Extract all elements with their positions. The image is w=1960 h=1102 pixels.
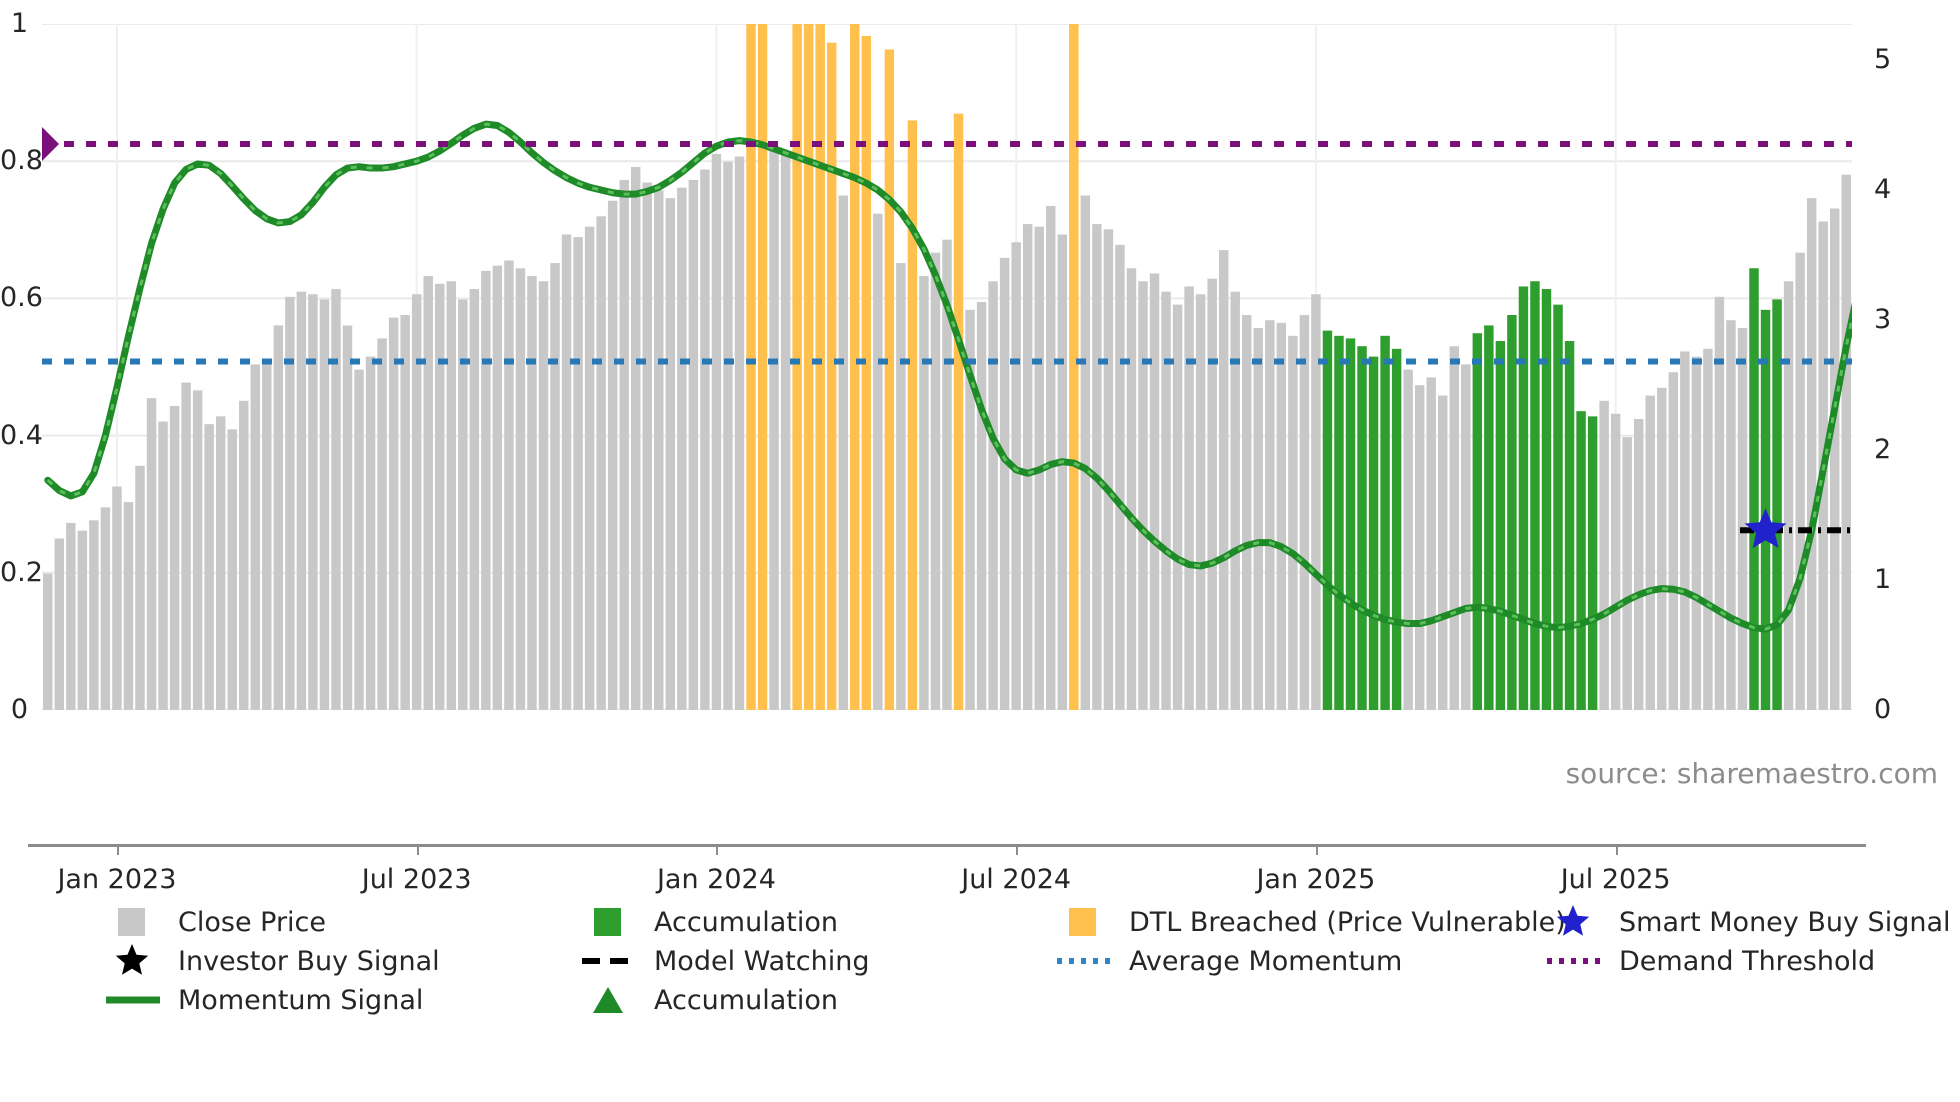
bar-close-price[interactable]	[1184, 286, 1193, 710]
bar-close-price[interactable]	[1207, 279, 1216, 710]
bar-accumulation[interactable]	[1588, 416, 1597, 710]
legend-dashed-line-icon	[580, 944, 638, 978]
legend-item-accumulation-marker[interactable]: Accumulation	[580, 983, 838, 1017]
bar-accumulation[interactable]	[1334, 336, 1343, 710]
y-axis-left-tick-label: 0.8	[0, 147, 28, 174]
bar-close-price[interactable]	[320, 299, 329, 710]
bar-close-price[interactable]	[712, 154, 721, 710]
bar-accumulation[interactable]	[1749, 268, 1758, 710]
star-icon	[1557, 905, 1589, 936]
bar-close-price[interactable]	[1161, 292, 1170, 710]
bar-close-price[interactable]	[170, 406, 179, 710]
bar-accumulation[interactable]	[1576, 411, 1585, 710]
bar-close-price[interactable]	[1173, 305, 1182, 710]
x-axis-tick-label: Jul 2024	[961, 866, 1071, 893]
bar-close-price[interactable]	[873, 214, 882, 710]
bar-close-price[interactable]	[112, 487, 121, 710]
bar-close-price[interactable]	[1830, 208, 1839, 710]
bar-accumulation[interactable]	[1380, 336, 1389, 710]
bar-close-price[interactable]	[55, 539, 64, 711]
bar-close-price[interactable]	[1138, 281, 1147, 710]
bar-close-price[interactable]	[181, 383, 190, 710]
legend-label: Accumulation	[654, 987, 838, 1014]
legend-star-icon	[1545, 905, 1603, 939]
bar-close-price[interactable]	[1023, 224, 1032, 710]
x-axis-tick	[716, 844, 718, 855]
bar-dtl-breached[interactable]	[792, 24, 801, 710]
bar-close-price[interactable]	[1634, 419, 1643, 710]
bar-dtl-breached[interactable]	[908, 120, 917, 710]
bar-close-price[interactable]	[1807, 198, 1816, 710]
y-axis-right-tick-label: 3	[1874, 306, 1891, 333]
bar-close-price[interactable]	[1795, 253, 1804, 710]
bar-close-price[interactable]	[308, 294, 317, 710]
bar-dtl-breached[interactable]	[862, 36, 871, 710]
bar-close-price[interactable]	[1300, 315, 1309, 710]
bar-close-price[interactable]	[423, 276, 432, 710]
bar-accumulation[interactable]	[1369, 357, 1378, 710]
bar-close-price[interactable]	[896, 263, 905, 710]
bar-close-price[interactable]	[1230, 292, 1239, 710]
bar-close-price[interactable]	[539, 281, 548, 710]
x-axis-tick-label: Jan 2024	[657, 866, 776, 893]
legend-swatch-square-icon	[580, 905, 638, 939]
bar-dtl-breached[interactable]	[1069, 24, 1078, 710]
legend-item-average-momentum[interactable]: Average Momentum	[1055, 944, 1402, 978]
bar-close-price[interactable]	[1842, 175, 1851, 710]
bar-close-price[interactable]	[493, 266, 502, 710]
bar-close-price[interactable]	[1450, 346, 1459, 710]
bar-close-price[interactable]	[1415, 385, 1424, 710]
bar-close-price[interactable]	[769, 149, 778, 710]
bar-close-price[interactable]	[89, 520, 98, 710]
bar-close-price[interactable]	[274, 325, 283, 710]
chart-legend: Close PriceAccumulationDTL Breached (Pri…	[0, 905, 1960, 1085]
bar-dtl-breached[interactable]	[815, 24, 824, 710]
y-axis-left-tick-label: 1	[0, 10, 28, 37]
bar-close-price[interactable]	[1669, 372, 1678, 710]
bar-close-price[interactable]	[1115, 245, 1124, 710]
y-axis-right-tick-label: 5	[1874, 46, 1891, 73]
square-icon	[118, 908, 145, 936]
bar-dtl-breached[interactable]	[954, 114, 963, 710]
bar-close-price[interactable]	[354, 370, 363, 710]
legend-label: Investor Buy Signal	[178, 948, 440, 975]
bar-dtl-breached[interactable]	[804, 24, 813, 710]
bar-close-price[interactable]	[1046, 206, 1055, 710]
bar-close-price[interactable]	[78, 531, 87, 710]
bar-close-price[interactable]	[377, 338, 386, 710]
chart-root: 00.20.40.60.81012345Jan 2023Jul 2023Jan …	[0, 0, 1960, 1102]
bar-close-price[interactable]	[1277, 323, 1286, 710]
bar-close-price[interactable]	[608, 201, 617, 710]
legend-label: Accumulation	[654, 909, 838, 936]
square-icon	[1069, 908, 1096, 936]
bar-accumulation[interactable]	[1357, 346, 1366, 710]
bar-close-price[interactable]	[389, 318, 398, 710]
legend-dotted-line-icon	[1055, 944, 1113, 978]
bar-close-price[interactable]	[1104, 229, 1113, 710]
bar-close-price[interactable]	[239, 401, 248, 710]
bar-close-price[interactable]	[1000, 258, 1009, 710]
bar-close-price[interactable]	[550, 263, 559, 710]
bar-dtl-breached[interactable]	[850, 24, 859, 710]
bar-close-price[interactable]	[1438, 396, 1447, 710]
bar-accumulation[interactable]	[1484, 325, 1493, 710]
bar-close-price[interactable]	[470, 289, 479, 710]
y-axis-right-tick-label: 2	[1874, 436, 1891, 463]
legend-item-dtl-breached[interactable]: DTL Breached (Price Vulnerable)	[1055, 905, 1566, 939]
bar-close-price[interactable]	[251, 364, 260, 710]
bar-close-price[interactable]	[1092, 224, 1101, 710]
bar-close-price[interactable]	[1426, 377, 1435, 710]
bar-close-price[interactable]	[262, 362, 271, 710]
bar-close-price[interactable]	[596, 216, 605, 710]
bar-close-price[interactable]	[1265, 320, 1274, 710]
y-axis-right-tick-label: 0	[1874, 696, 1891, 723]
legend-label: Demand Threshold	[1619, 948, 1875, 975]
legend-swatch-square-icon	[104, 905, 162, 939]
bar-close-price[interactable]	[573, 237, 582, 710]
legend-item-smart-money-buy-signal[interactable]: Smart Money Buy Signal	[1545, 905, 1951, 939]
bar-close-price[interactable]	[585, 227, 594, 710]
bar-close-price[interactable]	[643, 183, 652, 710]
bar-close-price[interactable]	[919, 276, 928, 710]
bar-accumulation[interactable]	[1507, 315, 1516, 710]
bar-close-price[interactable]	[516, 268, 525, 710]
bar-close-price[interactable]	[1599, 401, 1608, 710]
bar-close-price[interactable]	[1680, 351, 1689, 710]
legend-item-accumulation-bar[interactable]: Accumulation	[580, 905, 838, 939]
y-axis-left-tick-label: 0.4	[0, 422, 28, 449]
bar-close-price[interactable]	[1461, 364, 1470, 710]
bar-close-price[interactable]	[435, 284, 444, 710]
bar-close-price[interactable]	[400, 315, 409, 710]
bar-close-price[interactable]	[700, 170, 709, 710]
legend-swatch-square-icon	[1055, 905, 1113, 939]
legend-label: Momentum Signal	[178, 987, 423, 1014]
bar-accumulation[interactable]	[1346, 338, 1355, 710]
x-axis-tick	[1016, 844, 1018, 855]
bar-close-price[interactable]	[931, 253, 940, 710]
bar-close-price[interactable]	[204, 424, 213, 710]
bar-dtl-breached[interactable]	[746, 24, 755, 710]
bar-close-price[interactable]	[1011, 242, 1020, 710]
demand-threshold-marker	[42, 127, 59, 161]
bar-close-price[interactable]	[1219, 250, 1228, 710]
square-icon	[594, 908, 621, 936]
legend-dotted-line-icon	[1545, 944, 1603, 978]
bar-close-price[interactable]	[1081, 196, 1090, 711]
bar-close-price[interactable]	[781, 154, 790, 710]
bar-close-price[interactable]	[1403, 370, 1412, 710]
bar-close-price[interactable]	[158, 422, 167, 710]
bar-accumulation[interactable]	[1530, 281, 1539, 710]
legend-star-icon	[104, 944, 162, 978]
legend-item-close-price[interactable]: Close Price	[104, 905, 326, 939]
legend-item-investor-buy-signal[interactable]: Investor Buy Signal	[104, 944, 440, 978]
x-axis-tick	[1316, 844, 1318, 855]
plot-area	[42, 24, 1852, 710]
x-axis-tick-label: Jan 2025	[1256, 866, 1375, 893]
bar-dtl-breached[interactable]	[885, 49, 894, 710]
x-axis-spine	[28, 844, 1866, 847]
triangle-icon	[593, 987, 623, 1013]
bar-close-price[interactable]	[481, 271, 490, 710]
y-axis-right-tick-label: 1	[1874, 566, 1891, 593]
legend-item-model-watching[interactable]: Model Watching	[580, 944, 869, 978]
legend-label: Close Price	[178, 909, 326, 936]
bar-close-price[interactable]	[631, 167, 640, 710]
bar-accumulation[interactable]	[1392, 349, 1401, 710]
y-axis-left-tick-label: 0.2	[0, 559, 28, 586]
bar-close-price[interactable]	[619, 180, 628, 710]
bar-close-price[interactable]	[101, 507, 110, 710]
bar-close-price[interactable]	[677, 188, 686, 710]
y-axis-left-tick-label: 0	[0, 696, 28, 723]
bar-close-price[interactable]	[527, 276, 536, 710]
bar-close-price[interactable]	[412, 294, 421, 710]
y-axis-right-tick-label: 4	[1874, 176, 1891, 203]
bar-dtl-breached[interactable]	[758, 24, 767, 710]
bar-close-price[interactable]	[366, 357, 375, 710]
bar-accumulation[interactable]	[1519, 286, 1528, 710]
bar-close-price[interactable]	[343, 325, 352, 710]
legend-solid-line-icon	[104, 983, 162, 1017]
bar-close-price[interactable]	[839, 196, 848, 711]
bar-close-price[interactable]	[227, 429, 236, 710]
bar-close-price[interactable]	[723, 162, 732, 710]
bar-accumulation[interactable]	[1323, 331, 1332, 710]
bar-accumulation[interactable]	[1542, 289, 1551, 710]
bar-close-price[interactable]	[977, 302, 986, 710]
bar-accumulation[interactable]	[1565, 341, 1574, 710]
x-axis-tick-label: Jul 2025	[1561, 866, 1671, 893]
bar-close-price[interactable]	[1703, 349, 1712, 710]
bar-close-price[interactable]	[1254, 328, 1263, 710]
bar-close-price[interactable]	[1611, 414, 1620, 710]
bar-close-price[interactable]	[666, 198, 675, 710]
x-axis-tick	[117, 844, 119, 855]
legend-label: Average Momentum	[1129, 948, 1402, 975]
bar-accumulation[interactable]	[1553, 305, 1562, 710]
x-axis-tick-label: Jan 2023	[57, 866, 176, 893]
bar-close-price[interactable]	[1646, 396, 1655, 710]
plot-svg	[42, 24, 1852, 710]
legend-label: Model Watching	[654, 948, 869, 975]
bar-close-price[interactable]	[1058, 234, 1067, 710]
bar-close-price[interactable]	[66, 523, 75, 710]
bar-close-price[interactable]	[1784, 281, 1793, 710]
bar-close-price[interactable]	[1738, 328, 1747, 710]
bar-close-price[interactable]	[1692, 357, 1701, 710]
bar-close-price[interactable]	[654, 190, 663, 710]
bar-close-price[interactable]	[43, 574, 52, 710]
x-axis-tick	[1616, 844, 1618, 855]
bar-close-price[interactable]	[1288, 336, 1297, 710]
bar-close-price[interactable]	[1311, 294, 1320, 710]
bar-close-price[interactable]	[193, 390, 202, 710]
bar-close-price[interactable]	[1196, 294, 1205, 710]
bar-close-price[interactable]	[1150, 273, 1159, 710]
bar-close-price[interactable]	[1657, 388, 1666, 710]
bar-close-price[interactable]	[147, 398, 156, 710]
x-axis-tick	[417, 844, 419, 855]
bar-close-price[interactable]	[1726, 320, 1735, 710]
bar-close-price[interactable]	[988, 281, 997, 710]
legend-triangle-icon	[580, 983, 638, 1017]
x-axis-tick-label: Jul 2023	[362, 866, 472, 893]
bar-close-price[interactable]	[331, 289, 340, 710]
y-axis-left-tick-label: 0.6	[0, 284, 28, 311]
bar-close-price[interactable]	[135, 466, 144, 710]
bar-close-price[interactable]	[447, 281, 456, 710]
legend-label: DTL Breached (Price Vulnerable)	[1129, 909, 1566, 936]
bar-accumulation[interactable]	[1473, 333, 1482, 710]
source-watermark: source: sharemaestro.com	[1566, 760, 1938, 788]
bar-close-price[interactable]	[689, 180, 698, 710]
bar-close-price[interactable]	[735, 157, 744, 710]
bar-close-price[interactable]	[504, 260, 513, 710]
bar-accumulation[interactable]	[1496, 341, 1505, 710]
bar-close-price[interactable]	[1127, 268, 1136, 710]
legend-item-momentum-signal[interactable]: Momentum Signal	[104, 983, 423, 1017]
bar-close-price[interactable]	[216, 416, 225, 710]
star-icon	[116, 944, 148, 975]
bar-close-price[interactable]	[562, 234, 571, 710]
bar-close-price[interactable]	[124, 502, 133, 710]
bar-close-price[interactable]	[297, 292, 306, 710]
bar-close-price[interactable]	[1622, 437, 1631, 710]
legend-label: Smart Money Buy Signal	[1619, 909, 1951, 936]
bar-close-price[interactable]	[1242, 315, 1251, 710]
legend-item-demand-threshold[interactable]: Demand Threshold	[1545, 944, 1875, 978]
